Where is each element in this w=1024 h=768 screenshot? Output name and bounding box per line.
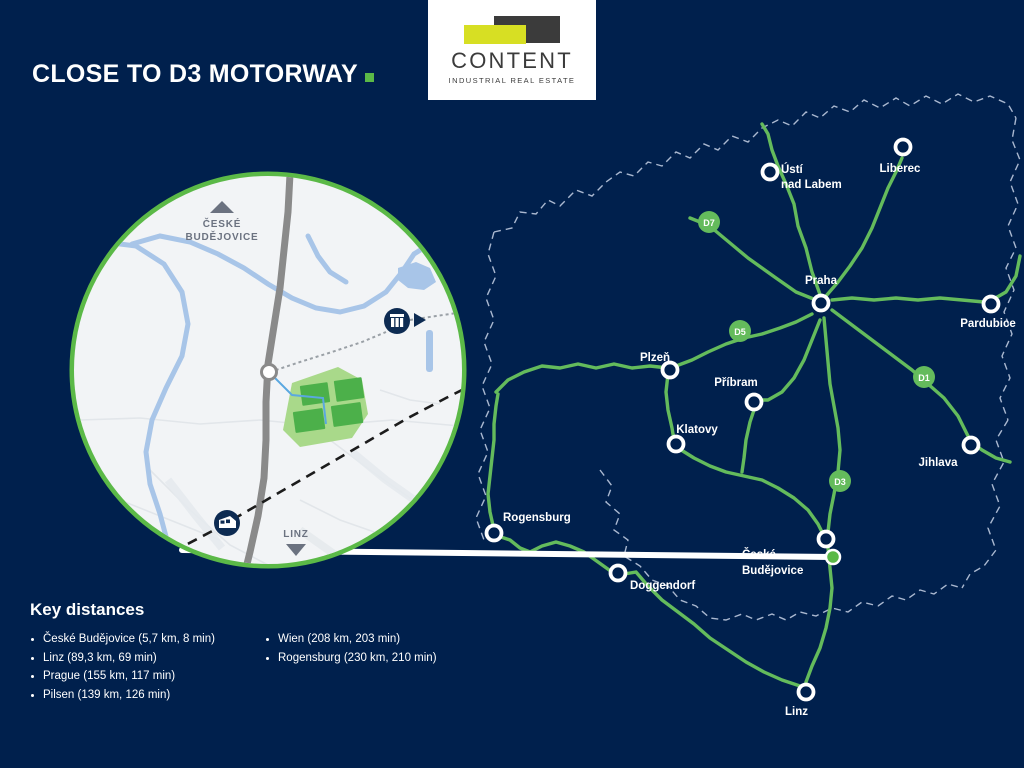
site-building-1	[300, 382, 331, 406]
roundabout-node	[262, 365, 277, 380]
logo-shape-lime	[464, 25, 526, 44]
inset-label-north-line1: ČESKÉ	[203, 217, 241, 230]
list-item: Rogensburg (230 km, 210 min)	[265, 649, 500, 668]
key-distances-column-left: České Budějovice (5,7 km, 8 min) Linz (8…	[30, 630, 265, 704]
site-building-2	[334, 377, 365, 402]
logo-tagline: INDUSTRIAL REAL ESTATE	[449, 76, 576, 85]
list-item: České Budějovice (5,7 km, 8 min)	[30, 630, 265, 649]
train-icon[interactable]	[214, 510, 240, 536]
inset-label-north-line2: BUDĚJOVICE	[185, 230, 258, 243]
key-distances-block: Key distances České Budějovice (5,7 km, …	[30, 600, 500, 704]
logo-mark-icon	[464, 16, 560, 46]
list-item: Wien (208 km, 203 min)	[265, 630, 500, 649]
motorway-icon[interactable]	[384, 308, 410, 334]
company-logo: CONTENT INDUSTRIAL REAL ESTATE	[428, 0, 596, 100]
water-strip	[426, 330, 433, 372]
logo-wordmark: CONTENT	[451, 50, 573, 72]
site-building-3	[331, 402, 364, 427]
key-distances-column-right: Wien (208 km, 203 min) Rogensburg (230 k…	[265, 630, 500, 704]
page-title: CLOSE TO D3 MOTORWAY	[32, 60, 374, 89]
page-title-text: CLOSE TO D3 MOTORWAY	[32, 60, 358, 88]
list-item: Pilsen (139 km, 126 min)	[30, 686, 265, 705]
list-item: Prague (155 km, 117 min)	[30, 667, 265, 686]
site-building-4	[293, 408, 326, 433]
key-distances-heading: Key distances	[30, 600, 500, 620]
list-item: Linz (89,3 km, 69 min)	[30, 649, 265, 668]
inset-label-south: LINZ	[283, 529, 308, 540]
slide-canvas: Ústí nad Labem Liberec Praha Pardubice P…	[0, 0, 1024, 768]
title-accent-dot	[365, 73, 374, 82]
